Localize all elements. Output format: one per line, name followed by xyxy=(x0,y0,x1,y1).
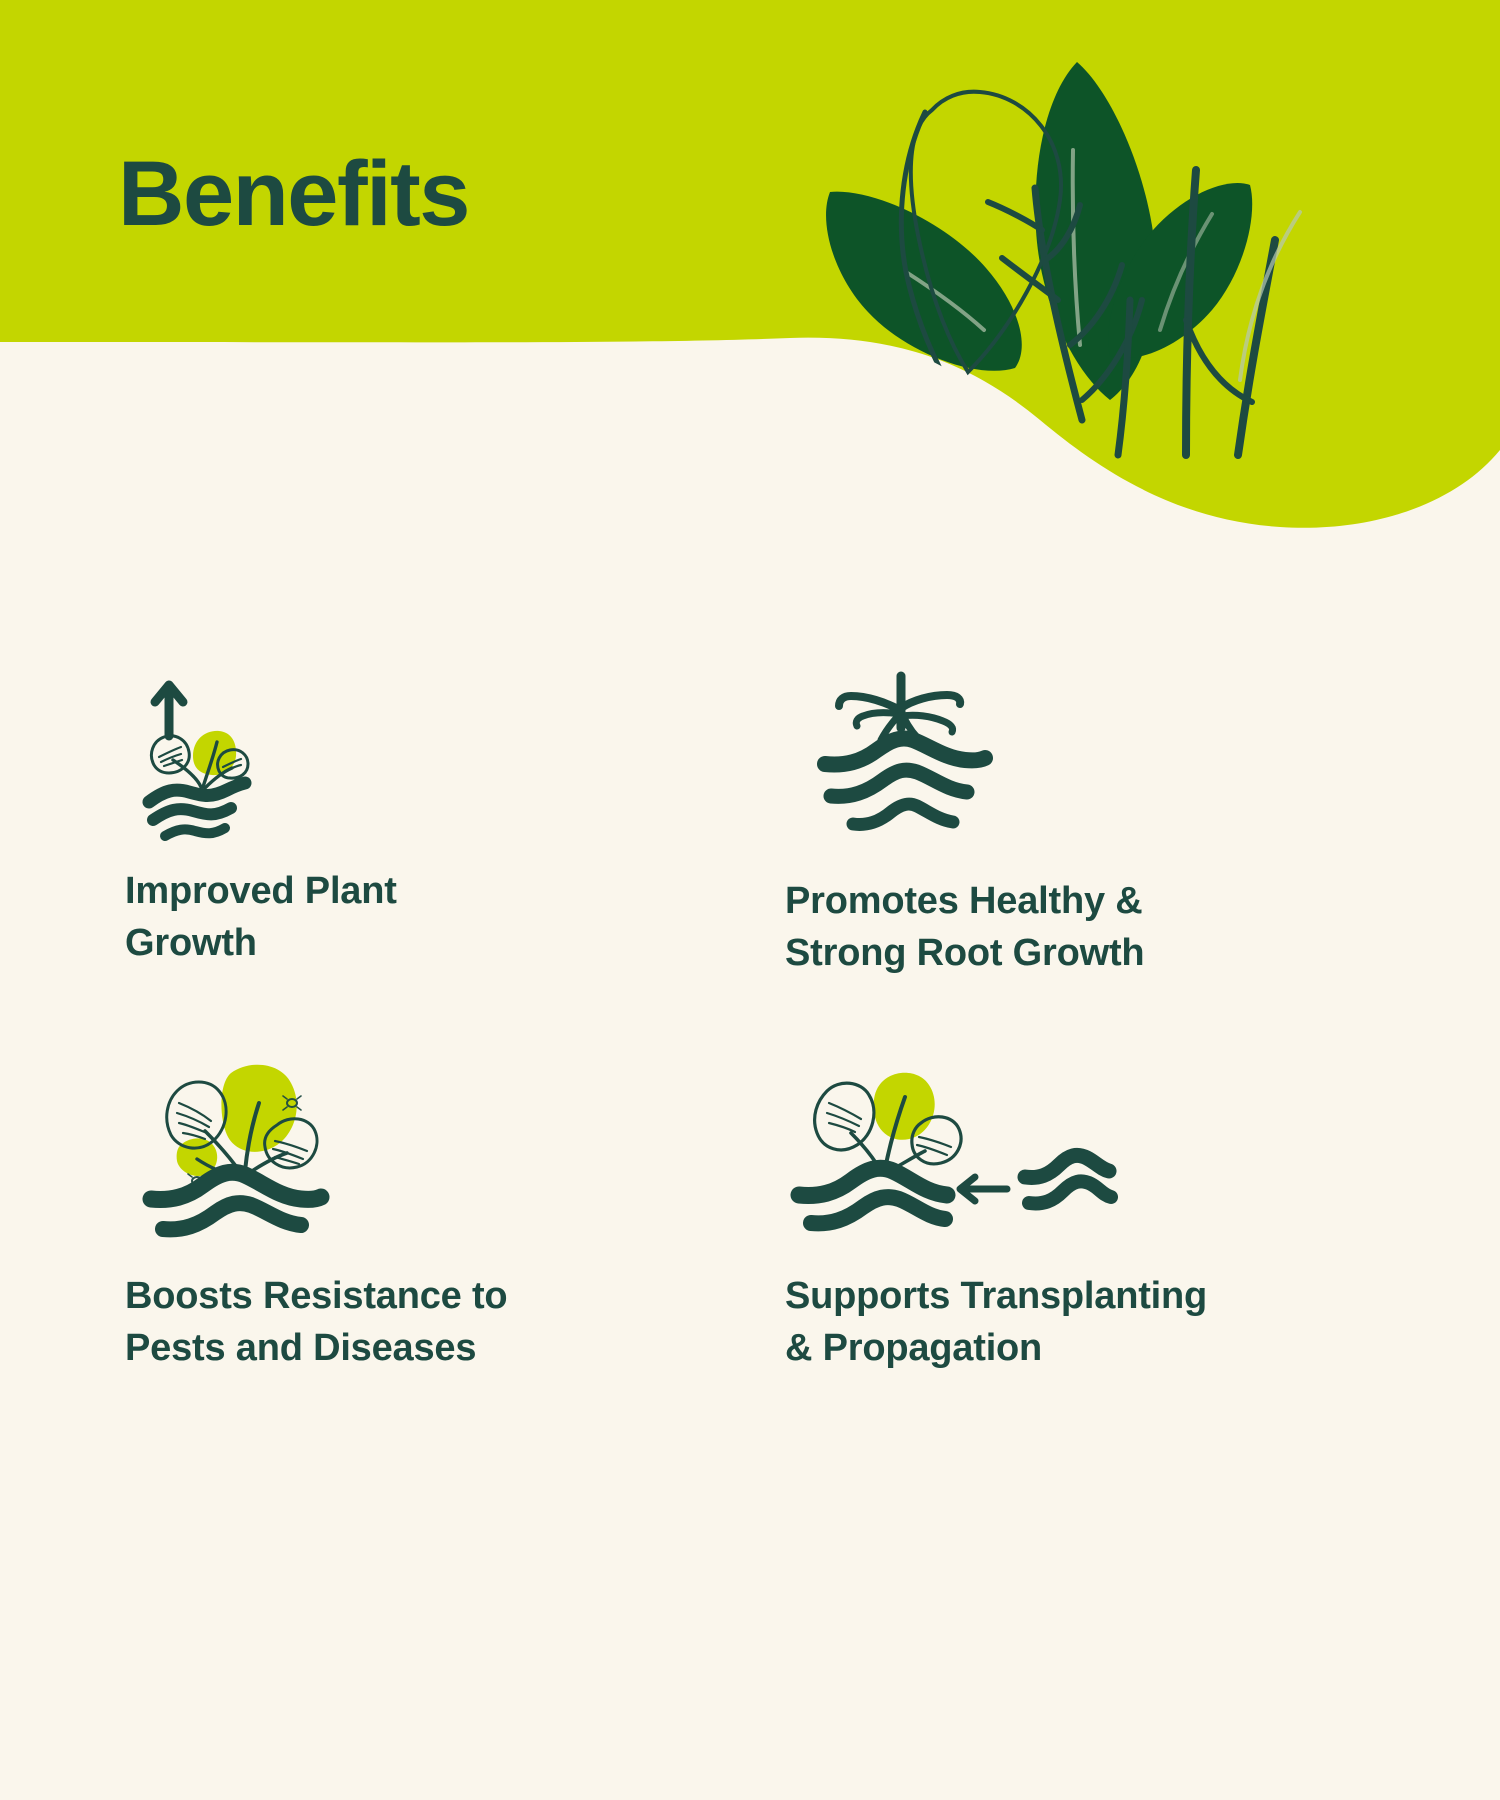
benefit-item-healthy-strong-roots: Promotes Healthy & Strong Root Growth xyxy=(785,640,1445,979)
benefit-label: Boosts Resistance to Pests and Diseases xyxy=(125,1271,645,1374)
leaf-vein-center xyxy=(1073,150,1080,345)
outline-leaf-left xyxy=(815,1083,874,1150)
lime-blob xyxy=(874,1073,935,1140)
leafy-plant-with-pests-icon xyxy=(125,1031,785,1231)
header-wave-shape xyxy=(0,0,1500,528)
stem-branch-c xyxy=(1002,258,1058,300)
plant-illustration xyxy=(826,62,1300,455)
benefit-item-transplanting-propagation: Supports Transplanting & Propagation xyxy=(785,1031,1445,1374)
benefit-label: Promotes Healthy & Strong Root Growth xyxy=(785,876,1305,979)
soil-wave-2 xyxy=(811,1197,945,1223)
benefit-label: Supports Transplanting & Propagation xyxy=(785,1271,1325,1374)
root-branch-right-1 xyxy=(901,695,960,708)
root-branch-left-1 xyxy=(839,696,900,710)
benefit-label: Improved Plant Growth xyxy=(125,866,645,969)
leaf-right-filled xyxy=(1108,183,1252,358)
leaf-vein-right xyxy=(1160,214,1212,330)
stem-branch-d xyxy=(1070,265,1122,345)
soil-wave-3 xyxy=(853,804,953,825)
leaf-outline-large xyxy=(911,92,1061,372)
outline-leaf-upper-left xyxy=(167,1082,226,1148)
stem-branch-a xyxy=(988,202,1042,230)
soil-wave-2 xyxy=(163,1203,301,1229)
stem-tall-1 xyxy=(1186,170,1196,455)
soil-wave-small-2 xyxy=(153,808,231,820)
benefit-item-pest-disease-resistance: Boosts Resistance to Pests and Diseases xyxy=(125,1031,785,1374)
header-band xyxy=(0,0,1500,540)
soil-wave-right-1 xyxy=(1025,1156,1109,1178)
benefits-grid: Improved Plant Growth xyxy=(0,640,1500,1375)
stem-tall-fork xyxy=(1186,320,1252,402)
soil-wave-right-2 xyxy=(1029,1182,1111,1204)
root-system-in-soil-icon xyxy=(785,640,1445,840)
soil-wave-1 xyxy=(799,1169,947,1196)
leaf-left-filled xyxy=(826,192,1022,371)
plant-transplant-arrow-icon xyxy=(785,1031,1445,1231)
stem-tall-2 xyxy=(1238,240,1275,455)
highlight-arc-right xyxy=(1240,212,1300,380)
soil-wave-small-3 xyxy=(165,828,225,836)
stem-tall-3 xyxy=(1118,300,1130,455)
small-seedling-group xyxy=(149,685,248,836)
soil-wave-2 xyxy=(831,770,967,796)
page-title: Benefits xyxy=(118,148,469,240)
outline-leaf-right xyxy=(912,1117,961,1164)
benefits-page: Benefits xyxy=(0,0,1500,1800)
leaf-center-filled xyxy=(1035,62,1156,400)
stem-branch-b xyxy=(1048,205,1080,258)
two-seedlings-growing-up-icon xyxy=(125,640,785,840)
stem-outline-sweep xyxy=(901,112,990,450)
stem-branch-e xyxy=(1082,300,1142,400)
soil-wave-small-1 xyxy=(149,783,245,802)
leaf-vein-left xyxy=(906,272,984,330)
soil-wave-1 xyxy=(825,738,985,764)
stem-branch-main xyxy=(1035,188,1082,420)
benefit-item-improved-plant-growth: Improved Plant Growth xyxy=(125,640,785,979)
